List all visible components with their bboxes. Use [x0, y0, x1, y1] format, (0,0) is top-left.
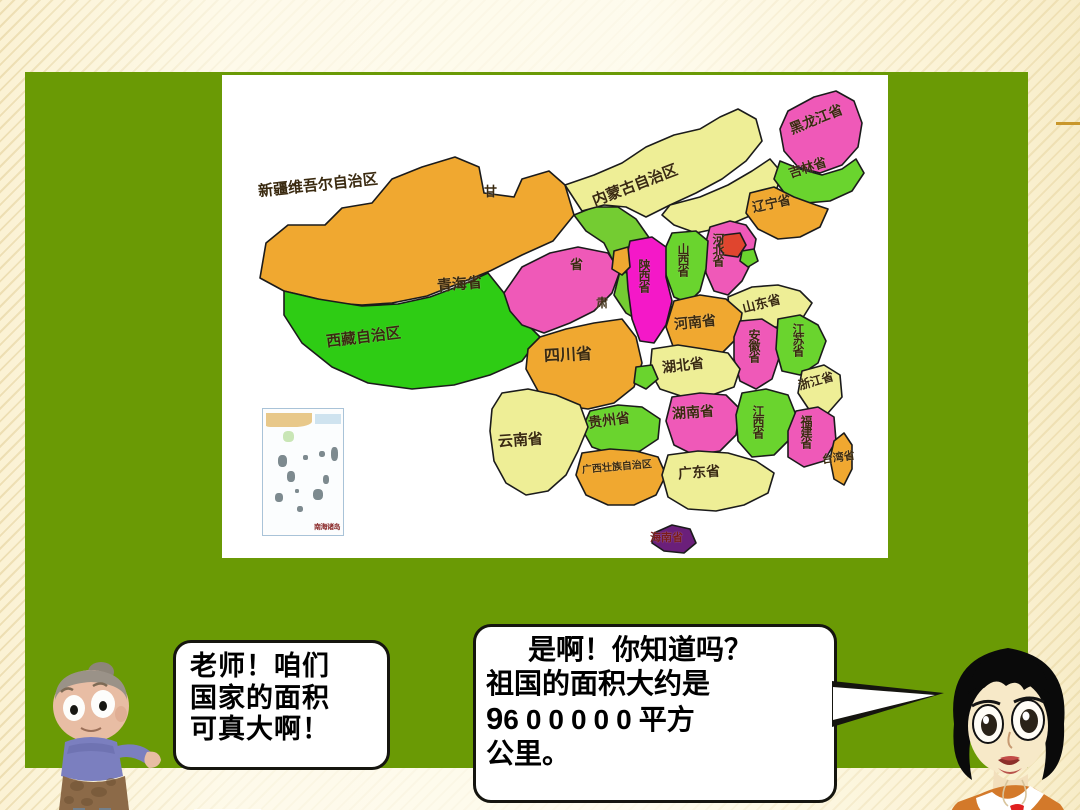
speech-bubble-tail-right-fill: [833, 687, 935, 720]
bubble-right-line-3: 9600000平方: [486, 700, 826, 737]
speech-bubble-girl[interactable]: 是啊！你知道吗？ 祖国的面积大约是 9600000平方 公里。: [473, 624, 837, 803]
china-map-image: 新疆维吾尔自治区 西藏自治区 青海省 甘 肃 省 内蒙古自治区 黑龙江省 吉林省…: [222, 75, 888, 558]
inset-sea-background: [266, 412, 340, 532]
inset-island: [297, 506, 303, 512]
bubble-right-line-4: 公里。: [486, 737, 826, 771]
area-value-digits: 600000: [503, 704, 638, 735]
bubble-left-line-1: 老师！咱们: [190, 651, 377, 683]
speech-bubble-elder[interactable]: 老师！咱们 国家的面积 可真大啊！: [173, 640, 390, 770]
inset-island: [283, 431, 294, 442]
gold-accent-line: [1056, 122, 1080, 125]
inset-landmass-east: [315, 414, 341, 424]
bubble-right-line-1: 是啊！你知道吗？: [486, 633, 826, 667]
inset-island: [295, 489, 299, 493]
green-content-panel: 新疆维吾尔自治区 西藏自治区 青海省 甘 肃 省 内蒙古自治区 黑龙江省 吉林省…: [25, 72, 1028, 768]
south-china-sea-inset: 南海诸岛: [262, 408, 344, 536]
inset-island: [303, 455, 308, 460]
area-unit-part1: 平方: [639, 704, 695, 735]
character-girl: [922, 628, 1080, 810]
inset-island: [275, 493, 283, 502]
character-elder: [47, 660, 163, 810]
inset-island: [331, 447, 338, 461]
inset-island: [323, 475, 329, 484]
inset-island: [319, 451, 325, 457]
bubble-left-line-2: 国家的面积: [190, 683, 377, 715]
area-value-leading-digit: 9: [486, 701, 503, 736]
inset-island: [287, 471, 295, 482]
inset-island: [278, 455, 287, 467]
inset-island: [313, 489, 323, 500]
inset-landmass: [266, 413, 312, 427]
slide-canvas: 新疆维吾尔自治区 西藏自治区 青海省 甘 肃 省 内蒙古自治区 黑龙江省 吉林省…: [0, 0, 1080, 810]
bubble-right-line-2: 祖国的面积大约是: [486, 667, 826, 701]
bubble-left-line-3: 可真大啊！: [190, 714, 377, 746]
inset-label: 南海诸岛: [314, 522, 340, 532]
